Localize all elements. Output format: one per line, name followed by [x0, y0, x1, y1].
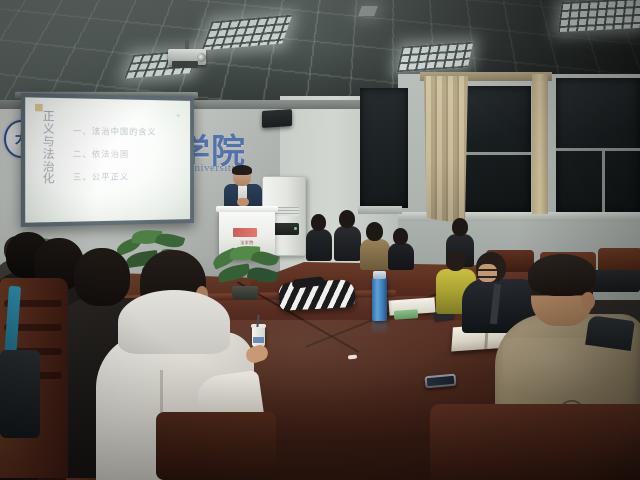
hoodie-hood	[118, 290, 230, 354]
window-mullion	[602, 148, 605, 214]
window-mullion	[556, 148, 640, 151]
presenter-hair	[232, 165, 252, 175]
slide-line: 三、公平正义	[73, 171, 129, 183]
attendee-torso	[360, 239, 390, 270]
attendee-hair	[528, 254, 596, 296]
attendee	[306, 214, 332, 260]
slide-line: 二、依法治国	[73, 149, 129, 160]
ceiling-light-panel	[397, 42, 474, 73]
podium-top	[216, 206, 278, 212]
slide-surface: + 正义与法治化 一、法治中国的含义 二、依法治国 三、公平正义	[25, 97, 190, 222]
attendee	[334, 210, 361, 260]
attendee-head	[393, 228, 408, 245]
seminar-room-photo: 大 学院 University + 正义与法治化 一、法治中国的含义 二、依法治…	[0, 0, 640, 480]
attendee-ear	[581, 292, 595, 310]
attendee-head	[339, 210, 355, 228]
green-item-on-table	[394, 309, 419, 320]
attendee-head	[366, 222, 383, 241]
thermos-cap	[373, 271, 386, 279]
ceiling-light-panel	[558, 0, 640, 32]
curtain	[424, 76, 468, 224]
jacket-collar	[585, 315, 635, 351]
attendee-head	[452, 218, 468, 236]
attendee-torso	[388, 243, 414, 270]
attendee-torso	[306, 229, 332, 261]
slide-line: 一、法治中国的含义	[73, 126, 157, 138]
bag	[0, 350, 40, 438]
projector-lens	[197, 53, 206, 62]
phone-screen	[427, 376, 455, 386]
attendee	[388, 228, 414, 268]
attendee-head	[311, 214, 326, 231]
projector-icon	[168, 40, 206, 70]
projector-underside	[172, 61, 198, 68]
attendee-torso	[334, 226, 361, 261]
chair-seat	[156, 412, 276, 480]
cup-label	[253, 337, 264, 343]
slide-corner-mark: +	[176, 113, 180, 120]
ac-power-led	[294, 227, 297, 230]
presenter-hands	[237, 198, 249, 206]
curtain	[532, 74, 548, 214]
chair-seat	[430, 404, 640, 480]
projection-screen[interactable]: + 正义与法治化 一、法治中国的含义 二、依法治国 三、公平正义	[21, 93, 194, 227]
attendee	[360, 222, 390, 268]
thermos-bottle	[372, 277, 387, 321]
podium-logo	[233, 228, 257, 237]
window-pane	[556, 78, 640, 214]
window-pane	[360, 88, 408, 208]
slide-vertical-title: 正义与法治化	[41, 110, 57, 185]
window-sill	[358, 206, 402, 214]
glasses-icon	[477, 269, 497, 278]
thermos-reflection	[372, 321, 387, 335]
